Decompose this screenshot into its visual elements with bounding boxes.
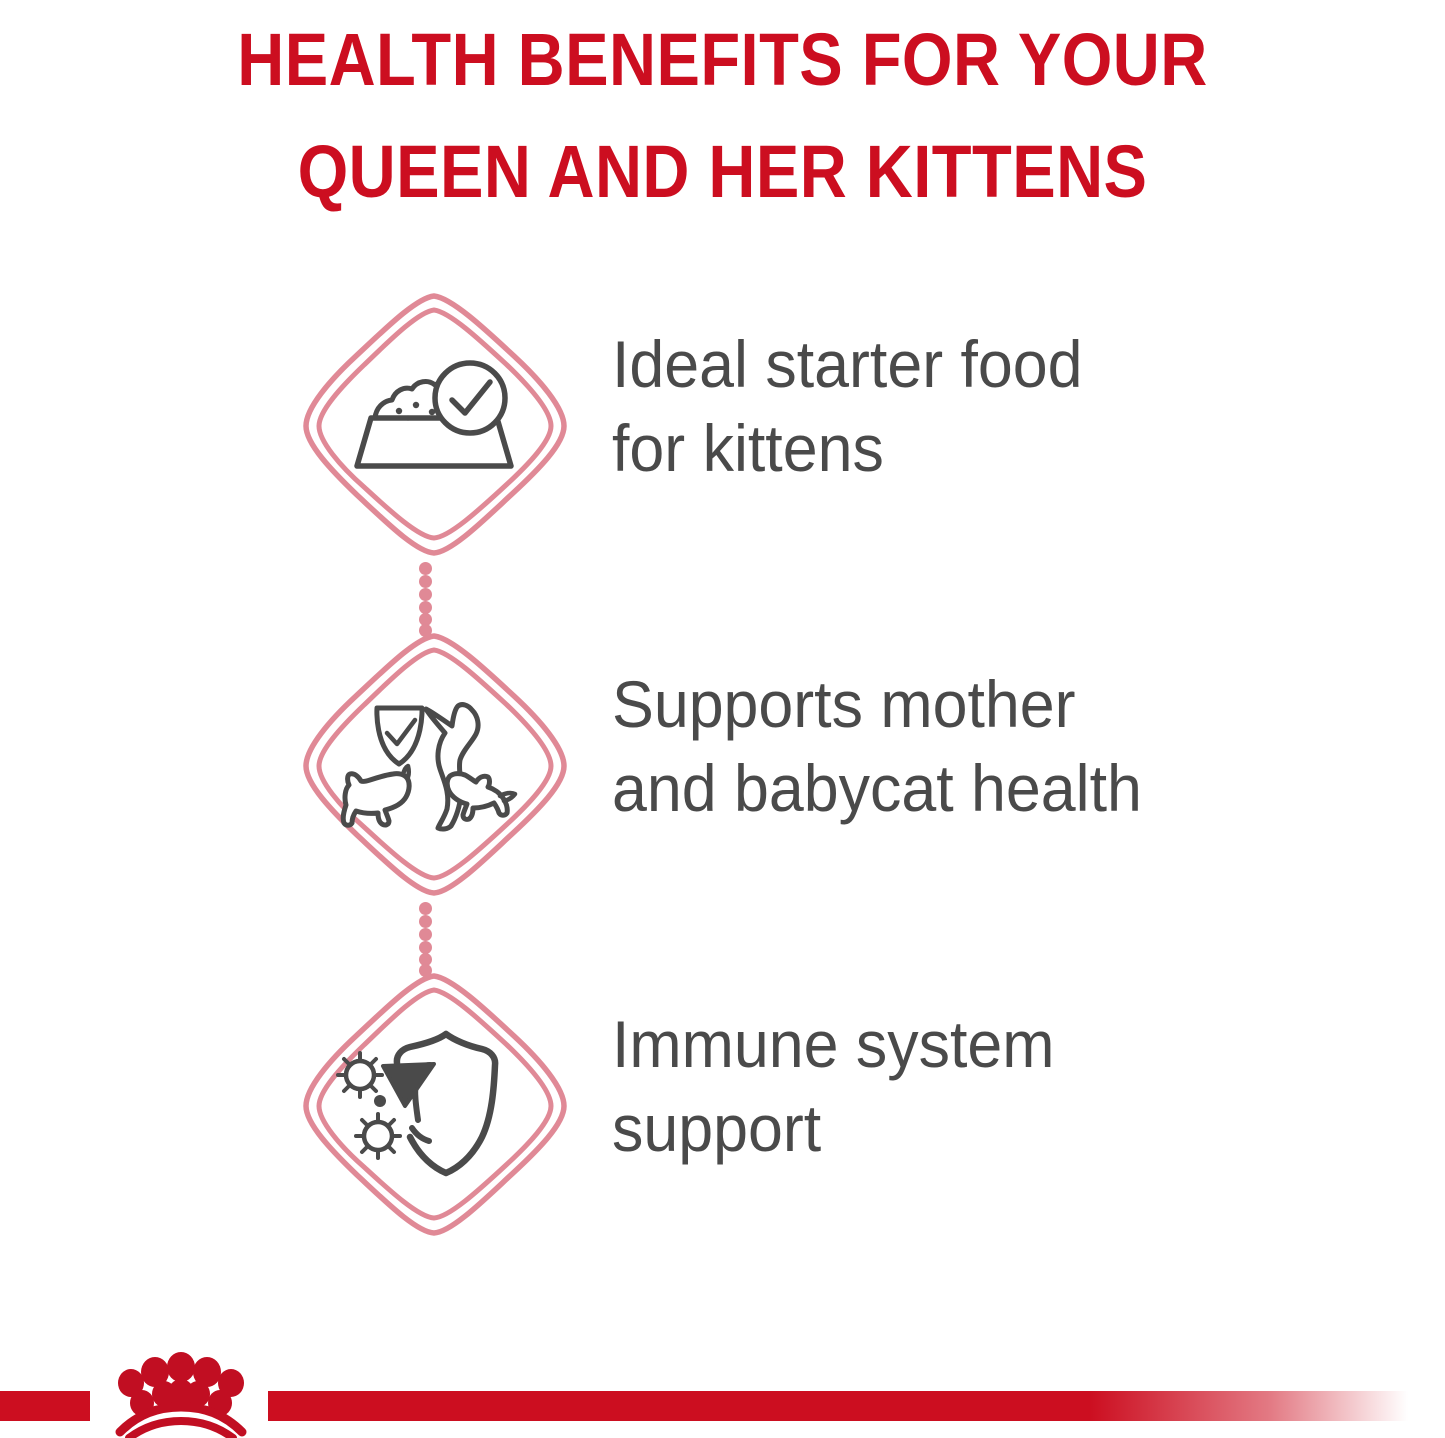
benefit-label: Supports mother and babycat health bbox=[612, 662, 1363, 831]
page-title: HEALTH BENEFITS FOR YOUR QUEEN AND HER K… bbox=[87, 4, 1359, 229]
shield-mother-cat-kittens-icon bbox=[300, 630, 570, 900]
royal-canin-crown-logo bbox=[96, 1336, 266, 1438]
benefit-label-line-1: Supports mother bbox=[612, 662, 1363, 746]
benefit-label-line-2: support bbox=[612, 1086, 1363, 1170]
page-title-line-2: QUEEN AND HER KITTENS bbox=[87, 116, 1359, 228]
benefit-row: Ideal starter food for kittens bbox=[0, 290, 1445, 630]
connector-dots bbox=[410, 902, 460, 974]
connector-dots bbox=[410, 562, 460, 634]
benefit-row: Immune system support bbox=[0, 970, 1445, 1310]
footer-bar-left-segment bbox=[0, 1391, 90, 1421]
benefit-label-line-1: Ideal starter food bbox=[612, 322, 1363, 406]
benefit-label-line-1: Immune system bbox=[612, 1002, 1363, 1086]
footer-bar-right-segment bbox=[268, 1391, 1408, 1421]
food-bowl-check-icon bbox=[300, 290, 570, 560]
benefits-list: Ideal starter food for kittens bbox=[0, 290, 1445, 1310]
benefit-label-line-2: and babycat health bbox=[612, 746, 1363, 830]
footer-brand-bar bbox=[0, 1374, 1445, 1438]
benefit-row: Supports mother and babycat health bbox=[0, 630, 1445, 970]
benefit-label: Immune system support bbox=[612, 1002, 1363, 1171]
page-title-line-1: HEALTH BENEFITS FOR YOUR bbox=[87, 4, 1359, 116]
benefit-label: Ideal starter food for kittens bbox=[612, 322, 1363, 491]
shield-germ-defense-icon bbox=[300, 970, 570, 1240]
benefit-label-line-2: for kittens bbox=[612, 406, 1363, 490]
